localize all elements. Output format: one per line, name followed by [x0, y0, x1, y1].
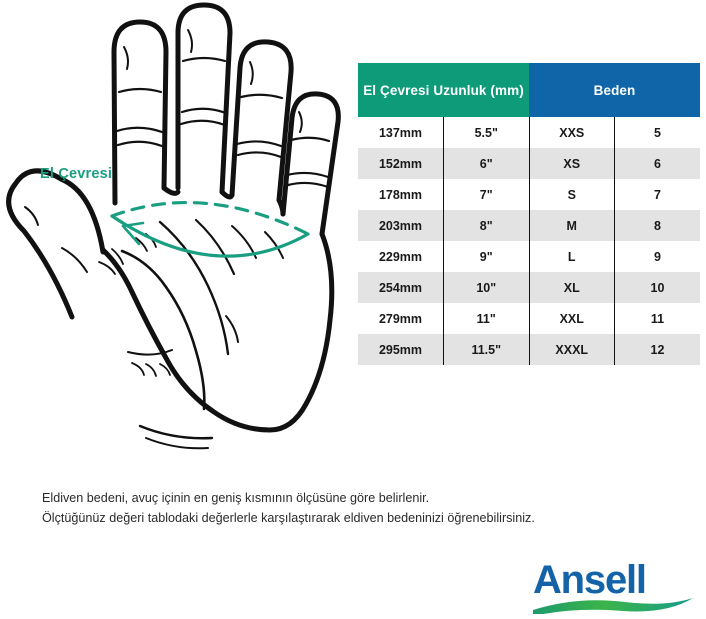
glove-size-table: El Çevresi Uzunluk (mm) Beden 137mm5.5"X… [358, 63, 700, 365]
ansell-logo: Ansell [533, 558, 693, 614]
ansell-swoosh-icon [531, 596, 695, 614]
cell-circumference-inch: 9" [444, 241, 530, 272]
hand-circumference-label: El Çevresi [40, 166, 112, 182]
cell-size-letter: XXS [529, 117, 615, 148]
cell-circumference-mm: 254mm [358, 272, 444, 303]
table-row: 254mm10"XL10 [358, 272, 700, 303]
cell-circumference-inch: 8" [444, 210, 530, 241]
cell-size-letter: M [529, 210, 615, 241]
cell-size-letter: L [529, 241, 615, 272]
table-row: 229mm9"L9 [358, 241, 700, 272]
cell-circumference-inch: 5.5" [444, 117, 530, 148]
table-row: 295mm11.5"XXXL12 [358, 334, 700, 365]
hand-illustration [0, 0, 352, 478]
instructions-line-1: Eldiven bedeni, avuç içinin en geniş kıs… [42, 488, 535, 508]
table-body: 137mm5.5"XXS5152mm6"XS6178mm7"S7203mm8"M… [358, 117, 700, 365]
cell-circumference-inch: 10" [444, 272, 530, 303]
cell-circumference-mm: 203mm [358, 210, 444, 241]
cell-size-number: 7 [615, 179, 701, 210]
header-hand-circumference: El Çevresi Uzunluk (mm) [358, 63, 529, 117]
cell-circumference-inch: 6" [444, 148, 530, 179]
instructions-line-2: Ölçtüğünüz değeri tablodaki değerlerle k… [42, 508, 535, 528]
cell-size-letter: XXXL [529, 334, 615, 365]
cell-circumference-mm: 137mm [358, 117, 444, 148]
table-row: 279mm11"XXL11 [358, 303, 700, 334]
cell-circumference-inch: 7" [444, 179, 530, 210]
cell-size-letter: S [529, 179, 615, 210]
cell-size-number: 12 [615, 334, 701, 365]
measurement-instructions: Eldiven bedeni, avuç içinin en geniş kıs… [42, 488, 535, 528]
table-header-row: El Çevresi Uzunluk (mm) Beden [358, 63, 700, 117]
cell-size-number: 5 [615, 117, 701, 148]
table-row: 137mm5.5"XXS5 [358, 117, 700, 148]
cell-size-number: 8 [615, 210, 701, 241]
cell-size-letter: XXL [529, 303, 615, 334]
cell-size-letter: XL [529, 272, 615, 303]
cell-circumference-inch: 11.5" [444, 334, 530, 365]
cell-circumference-mm: 279mm [358, 303, 444, 334]
table-row: 203mm8"M8 [358, 210, 700, 241]
cell-circumference-mm: 295mm [358, 334, 444, 365]
table-row: 152mm6"XS6 [358, 148, 700, 179]
cell-size-number: 11 [615, 303, 701, 334]
cell-circumference-mm: 229mm [358, 241, 444, 272]
cell-size-number: 10 [615, 272, 701, 303]
cell-circumference-mm: 152mm [358, 148, 444, 179]
cell-circumference-inch: 11" [444, 303, 530, 334]
table-header: El Çevresi Uzunluk (mm) Beden [358, 63, 700, 117]
table-row: 178mm7"S7 [358, 179, 700, 210]
cell-size-number: 6 [615, 148, 701, 179]
cell-circumference-mm: 178mm [358, 179, 444, 210]
cell-size-number: 9 [615, 241, 701, 272]
header-size: Beden [529, 63, 700, 117]
cell-size-letter: XS [529, 148, 615, 179]
